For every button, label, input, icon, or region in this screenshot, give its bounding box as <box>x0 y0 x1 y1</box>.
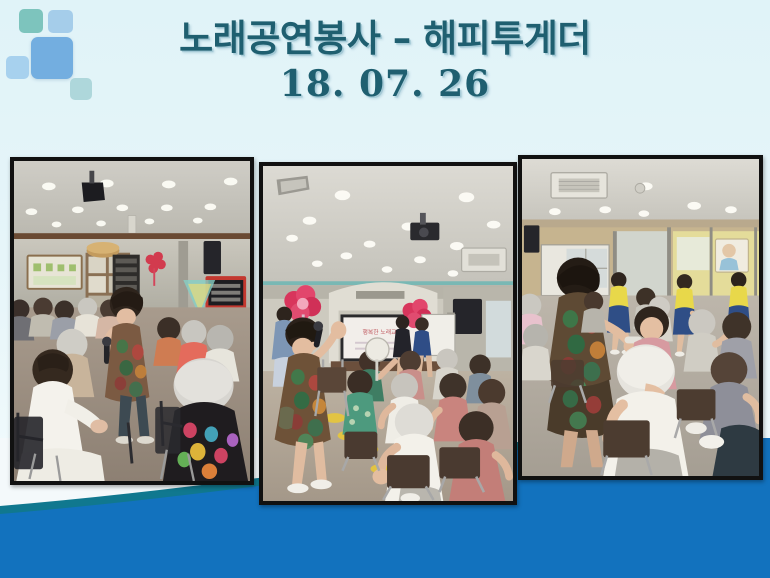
slide-title-block: 노래공연봉사 – 해피투게더 18. 07. 26 <box>0 18 770 106</box>
presentation-slide: 노래공연봉사 – 해피투게더 18. 07. 26 <box>0 0 770 578</box>
photo-left <box>10 157 254 485</box>
page-title: 노래공연봉사 – 해피투게더 <box>0 18 770 61</box>
title-date: 18. 07. 26 <box>0 63 770 106</box>
photo-middle: 행복한 노래교실 <box>259 162 517 505</box>
photo-middle-image: 행복한 노래교실 <box>263 166 513 501</box>
photo-right-image <box>522 159 759 476</box>
photo-left-image <box>14 161 250 481</box>
photo-right <box>518 155 763 480</box>
